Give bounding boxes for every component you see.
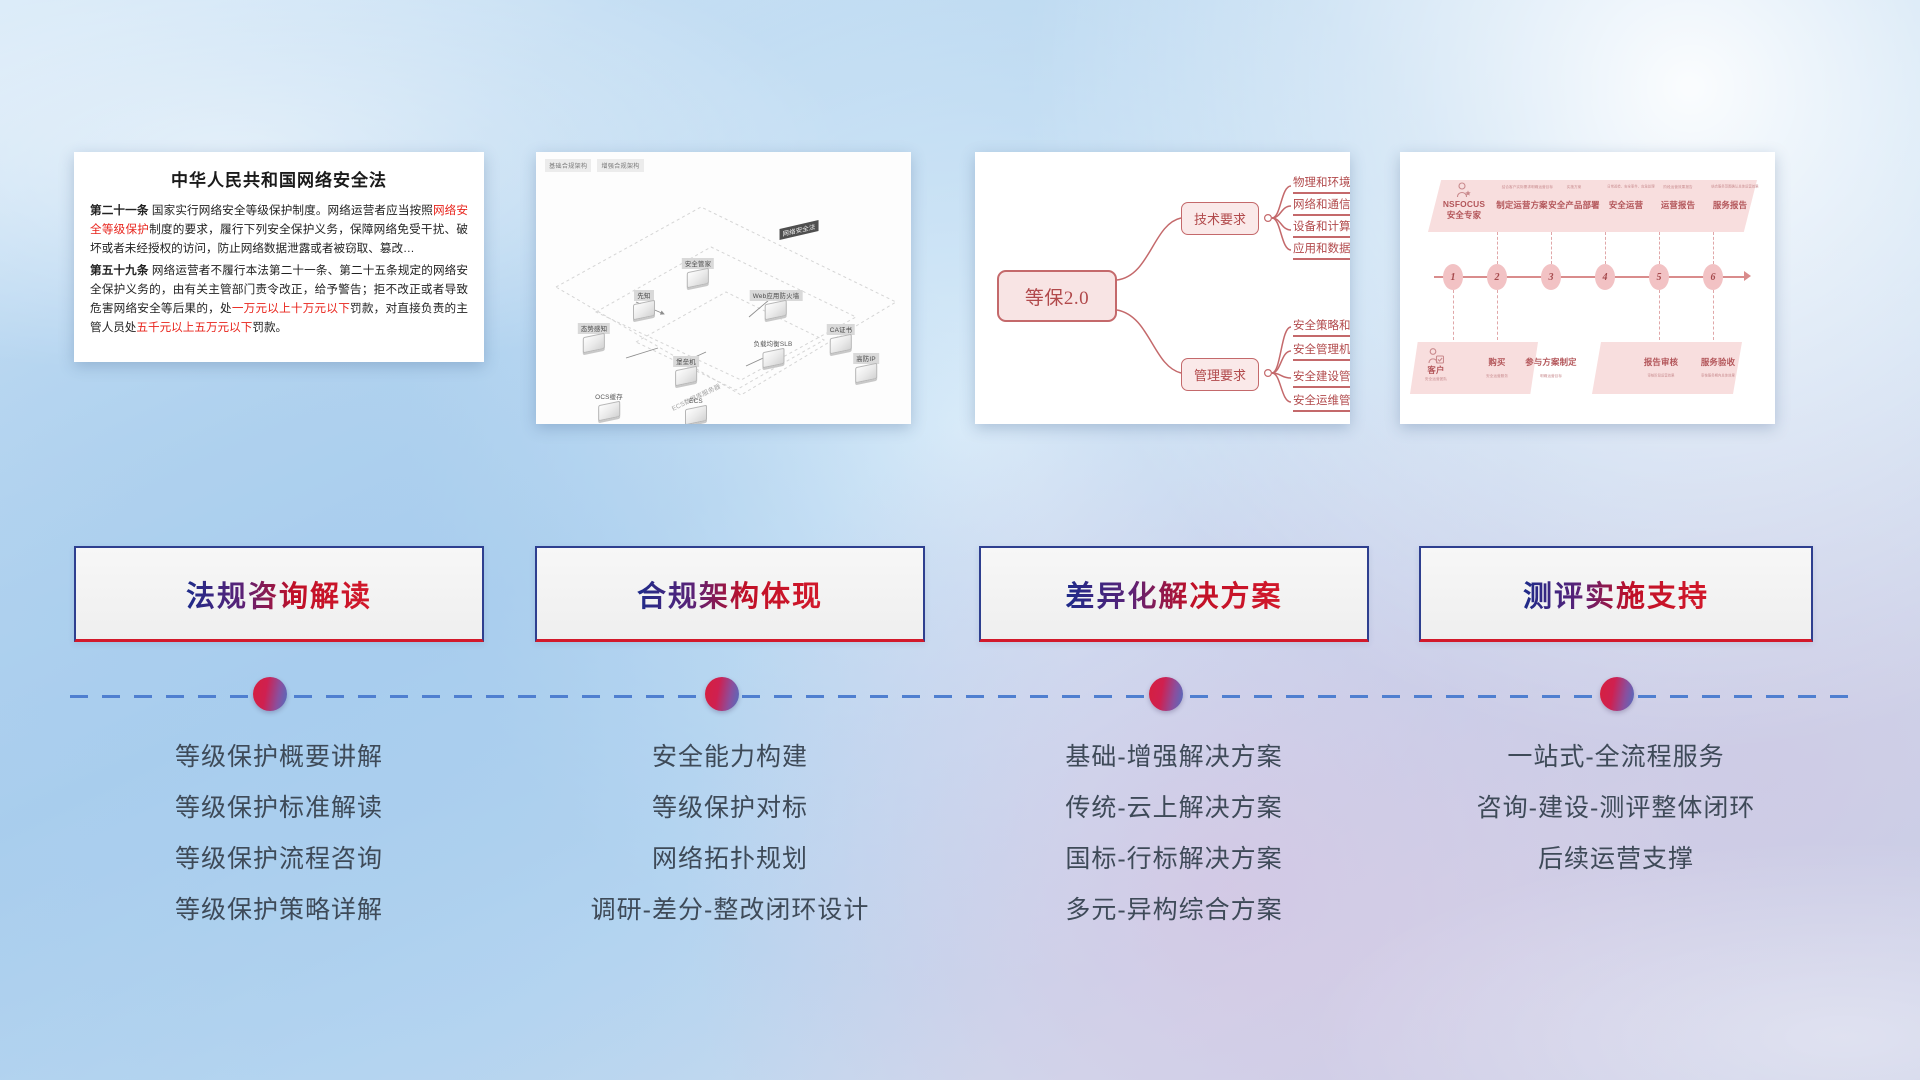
law-article-21-label: 第二十一条: [90, 204, 149, 217]
timeline-brand: NSFOCUS: [1438, 199, 1490, 209]
server-cube-icon: [598, 401, 620, 422]
bullet-column-evaluation-support: 一站式-全流程服务 咨询-建设-测评整体闭环 后续运营支撑: [1419, 745, 1813, 898]
timeline-stem: [1659, 290, 1660, 340]
server-cube-icon: [675, 366, 697, 387]
timeline-customer-label: 客户: [1416, 364, 1456, 376]
customer-person-icon: [1428, 348, 1444, 364]
bullet-item[interactable]: 国标-行标解决方案: [979, 847, 1369, 872]
bullet-item[interactable]: 安全能力构建: [535, 745, 925, 770]
mindmap-leaf[interactable]: 安全建设管理: [1293, 368, 1350, 388]
architecture-canvas: 态势感知 先知 安全管家 网络安全法 堡垒机 ECS: [536, 152, 911, 424]
china-cybersecurity-law-card[interactable]: 中华人民共和国网络安全法 第二十一条 国家实行网络安全等级保护制度。网络运营者应…: [74, 152, 484, 362]
law-article-59: 第五十九条 网络运营者不履行本法第二十一条、第二十五条规定的网络安全保护义务的，…: [90, 262, 468, 337]
timeline-bottom-step[interactable]: 报告审核 审核阶段运营效果: [1633, 356, 1689, 379]
bullet-column-differentiated-solution: 基础-增强解决方案 传统-云上解决方案 国标-行标解决方案 多元-异构综合方案: [979, 745, 1369, 949]
mindmap-leaf[interactable]: 网络和通信安全: [1293, 196, 1350, 216]
timeline-node[interactable]: 5: [1649, 264, 1669, 290]
bullet-item[interactable]: 等级保护概要讲解: [74, 745, 484, 770]
server-cube-icon: [687, 268, 709, 289]
timeline-step-detail: 实施方案: [1554, 185, 1595, 190]
timeline-node[interactable]: 1: [1443, 264, 1463, 290]
mindmap-leaf[interactable]: 设备和计算安全: [1293, 218, 1350, 238]
dashed-timeline-axis: [70, 695, 1860, 698]
title-label: 合规架构体现: [637, 573, 823, 615]
mindmap-root-node[interactable]: 等保2.0: [997, 270, 1117, 322]
timeline-brand-block: NSFOCUS 安全专家: [1438, 182, 1490, 221]
arch-node-label: 负载均衡SLB: [750, 338, 795, 349]
title-box-regulation-consulting[interactable]: 法规咨询解读: [74, 546, 484, 642]
timeline-stem: [1453, 290, 1454, 340]
timeline-step-title: 安全产品部署: [1548, 199, 1600, 211]
server-cube-icon: [830, 334, 852, 355]
server-cube-icon: [583, 333, 605, 354]
timeline-node[interactable]: 2: [1487, 264, 1507, 290]
arch-node-ocs-cache[interactable]: OCS缓存: [592, 391, 626, 419]
title-box-row: 法规咨询解读 合规架构体现 差异化解决方案 测评实施支持: [0, 546, 1920, 642]
timeline-step-detail: 阶段运营效果报告: [1658, 185, 1699, 190]
axis-dot-1[interactable]: [253, 677, 287, 711]
timeline-node[interactable]: 6: [1703, 264, 1723, 290]
timeline-axis: [1434, 276, 1744, 278]
arch-node-label: 先知: [634, 290, 653, 301]
bullet-item[interactable]: 等级保护对标: [535, 796, 925, 821]
expert-person-icon: [1455, 182, 1473, 198]
mindmap-leaf[interactable]: 安全运维管理: [1293, 392, 1350, 412]
cloud-compliance-architecture-card[interactable]: 基础合规架构 增强合规架构: [536, 152, 911, 424]
arch-node-xianzhi[interactable]: 先知: [633, 290, 655, 318]
timeline-stem: [1551, 232, 1552, 264]
mindmap-leaf[interactable]: 安全管理机构和人员: [1293, 341, 1350, 361]
timeline-bottom-step[interactable]: 服务验收 审核服务期内总体效果: [1690, 356, 1746, 379]
mindmap-leaf[interactable]: 安全策略和管理制度: [1293, 317, 1350, 337]
timeline-brand-sub: 安全专家: [1438, 209, 1490, 221]
timeline-stem: [1605, 232, 1606, 264]
axis-dot-3[interactable]: [1149, 677, 1183, 711]
timeline-step-title: 运营报告: [1652, 199, 1704, 211]
law-article-21: 第二十一条 国家实行网络安全等级保护制度。网络运营者应当按照网络安全等级保护制度…: [90, 202, 468, 258]
arch-node-label: 态势感知: [578, 323, 610, 334]
timeline-step-detail: 审核阶段运营效果: [1641, 374, 1681, 378]
timeline-step-title: 参与方案制定: [1520, 356, 1582, 368]
server-cube-icon: [633, 300, 655, 321]
timeline-top-step[interactable]: 阶段运营效果报告 运营报告: [1652, 184, 1704, 211]
timeline-bottom-step[interactable]: 购买 安全运营服务: [1474, 356, 1520, 379]
arch-node-ca-certificate[interactable]: CA证书: [827, 324, 855, 352]
bullet-item[interactable]: 等级保护策略详解: [74, 898, 484, 923]
timeline-top-step[interactable]: 实施方案 安全产品部署: [1548, 184, 1600, 211]
timeline-stem: [1713, 232, 1714, 264]
arch-node-web-application-firewall[interactable]: Web应用防火墙: [750, 290, 803, 318]
timeline-customer-sub: 安全运营团队: [1420, 377, 1452, 382]
server-cube-icon: [765, 300, 787, 321]
architecture-connectors: [536, 152, 911, 424]
mindmap-branch-technical[interactable]: 技术要求: [1181, 202, 1259, 235]
timeline-bottom-step[interactable]: 参与方案制定 明确运营目标: [1520, 356, 1582, 379]
bullet-column-regulation-consulting: 等级保护概要讲解 等级保护标准解读 等级保护流程咨询 等级保护策略详解: [74, 745, 484, 949]
timeline-step-detail: 审核服务期内总体效果: [1698, 374, 1738, 378]
arch-node-situational-awareness[interactable]: 态势感知: [578, 323, 610, 351]
title-label: 法规咨询解读: [186, 573, 372, 615]
server-cube-icon: [762, 348, 784, 369]
title-label: 测评实施支持: [1523, 573, 1709, 615]
arch-node-anti-ddos-ip[interactable]: 高防IP: [853, 353, 879, 381]
axis-dot-2[interactable]: [705, 677, 739, 711]
bullet-item[interactable]: 后续运营支撑: [1419, 847, 1813, 872]
mindmap-leaf[interactable]: 物理和环境安全: [1293, 174, 1350, 194]
timeline-stem: [1497, 290, 1498, 340]
law-article-59-label: 第五十九条: [90, 264, 149, 277]
arch-node-label: Web应用防火墙: [750, 290, 803, 301]
bullet-column-compliance-architecture: 安全能力构建 等级保护对标 网络拓扑规划 调研-差分-整改闭环设计: [535, 745, 925, 949]
timeline-step-detail: 安全运营服务: [1479, 374, 1515, 379]
timeline-step-title: 服务验收: [1690, 356, 1746, 368]
title-box-evaluation-support[interactable]: 测评实施支持: [1419, 546, 1813, 642]
timeline-arrow-icon: [1744, 271, 1751, 281]
axis-dot-4[interactable]: [1600, 677, 1634, 711]
server-cube-icon: [685, 405, 707, 424]
mlps-2-mindmap-card[interactable]: 等保2.0 技术要求 物理和环境安全 网络和通信安全 设备和计算安全 应用和数据…: [975, 152, 1350, 424]
mindmap-branch-management[interactable]: 管理要求: [1181, 358, 1259, 391]
law-article-21-text-1: 国家实行网络安全等级保护制度。网络运营者应当按照: [149, 204, 433, 217]
arch-node-bastion-host[interactable]: 堡垒机: [673, 356, 699, 384]
bullet-item[interactable]: 调研-差分-整改闭环设计: [535, 898, 925, 923]
title-box-differentiated-solution[interactable]: 差异化解决方案: [979, 546, 1369, 642]
bullet-item[interactable]: 咨询-建设-测评整体闭环: [1419, 796, 1813, 821]
timeline-step-title: 购买: [1474, 356, 1520, 368]
bullet-item[interactable]: 等级保护流程咨询: [74, 847, 484, 872]
bullet-item[interactable]: 多元-异构综合方案: [979, 898, 1369, 923]
timeline-stem: [1659, 232, 1660, 264]
timeline-step-detail: 结合客户实际需求明确运营目标: [1502, 185, 1543, 190]
bullet-item[interactable]: 一站式-全流程服务: [1419, 745, 1813, 770]
law-article-59-highlight-2: 五千元以上五万元以下: [136, 321, 252, 334]
timeline-stem: [1497, 232, 1498, 264]
arch-node-cybersecurity-law[interactable]: 网络安全法: [780, 225, 819, 236]
timeline-step-title: 安全运营: [1600, 199, 1652, 211]
server-cube-icon: [855, 363, 877, 384]
timeline-top-steps: 结合客户实际需求明确运营目标 制定运营方案 实施方案 安全产品部署 日常巡检、安…: [1496, 184, 1756, 211]
timeline-step-detail: 结合服务范围确认总体运营效果: [1711, 185, 1748, 189]
law-article-59-highlight-1: 一万元以上十万元以下: [232, 302, 350, 315]
timeline-top-step[interactable]: 结合客户实际需求明确运营目标 制定运营方案: [1496, 184, 1548, 211]
timeline-top-step[interactable]: 日常巡检、安全事件、应急处理 安全运营: [1600, 184, 1652, 211]
mindmap-leaf[interactable]: 应用和数据安全: [1293, 240, 1350, 260]
timeline-node[interactable]: 3: [1541, 264, 1561, 290]
timeline-step-title: 制定运营方案: [1496, 199, 1548, 211]
nsfocus-service-timeline-card[interactable]: NSFOCUS 安全专家 结合客户实际需求明确运营目标 制定运营方案 实施方案 …: [1400, 152, 1775, 424]
timeline-top-step[interactable]: 结合服务范围确认总体运营效果 服务报告: [1704, 184, 1756, 211]
arch-node-slb[interactable]: 负载均衡SLB: [750, 338, 795, 366]
timeline-step-detail: 日常巡检、安全事件、应急处理: [1607, 185, 1644, 189]
title-label: 差异化解决方案: [1065, 573, 1282, 615]
timeline-node[interactable]: 4: [1595, 264, 1615, 290]
bullet-item[interactable]: 基础-增强解决方案: [979, 745, 1369, 770]
timeline-stem: [1713, 290, 1714, 340]
timeline-step-detail: 明确运营目标: [1527, 374, 1575, 379]
bullet-item[interactable]: 传统-云上解决方案: [979, 796, 1369, 821]
law-card-title: 中华人民共和国网络安全法: [90, 166, 468, 191]
timeline-step-title: 服务报告: [1704, 199, 1756, 211]
bullet-item[interactable]: 网络拓扑规划: [535, 847, 925, 872]
timeline-step-title: 报告审核: [1633, 356, 1689, 368]
bullet-item[interactable]: 等级保护标准解读: [74, 796, 484, 821]
timeline-customer-block: 客户 安全运营团队: [1416, 348, 1456, 382]
law-article-59-text-3: 罚款。: [252, 321, 287, 334]
title-box-compliance-architecture[interactable]: 合规架构体现: [535, 546, 925, 642]
arch-node-label: 安全管家: [682, 258, 714, 269]
arch-node-security-steward[interactable]: 安全管家: [682, 258, 714, 286]
arch-node-label: OCS缓存: [592, 391, 626, 402]
